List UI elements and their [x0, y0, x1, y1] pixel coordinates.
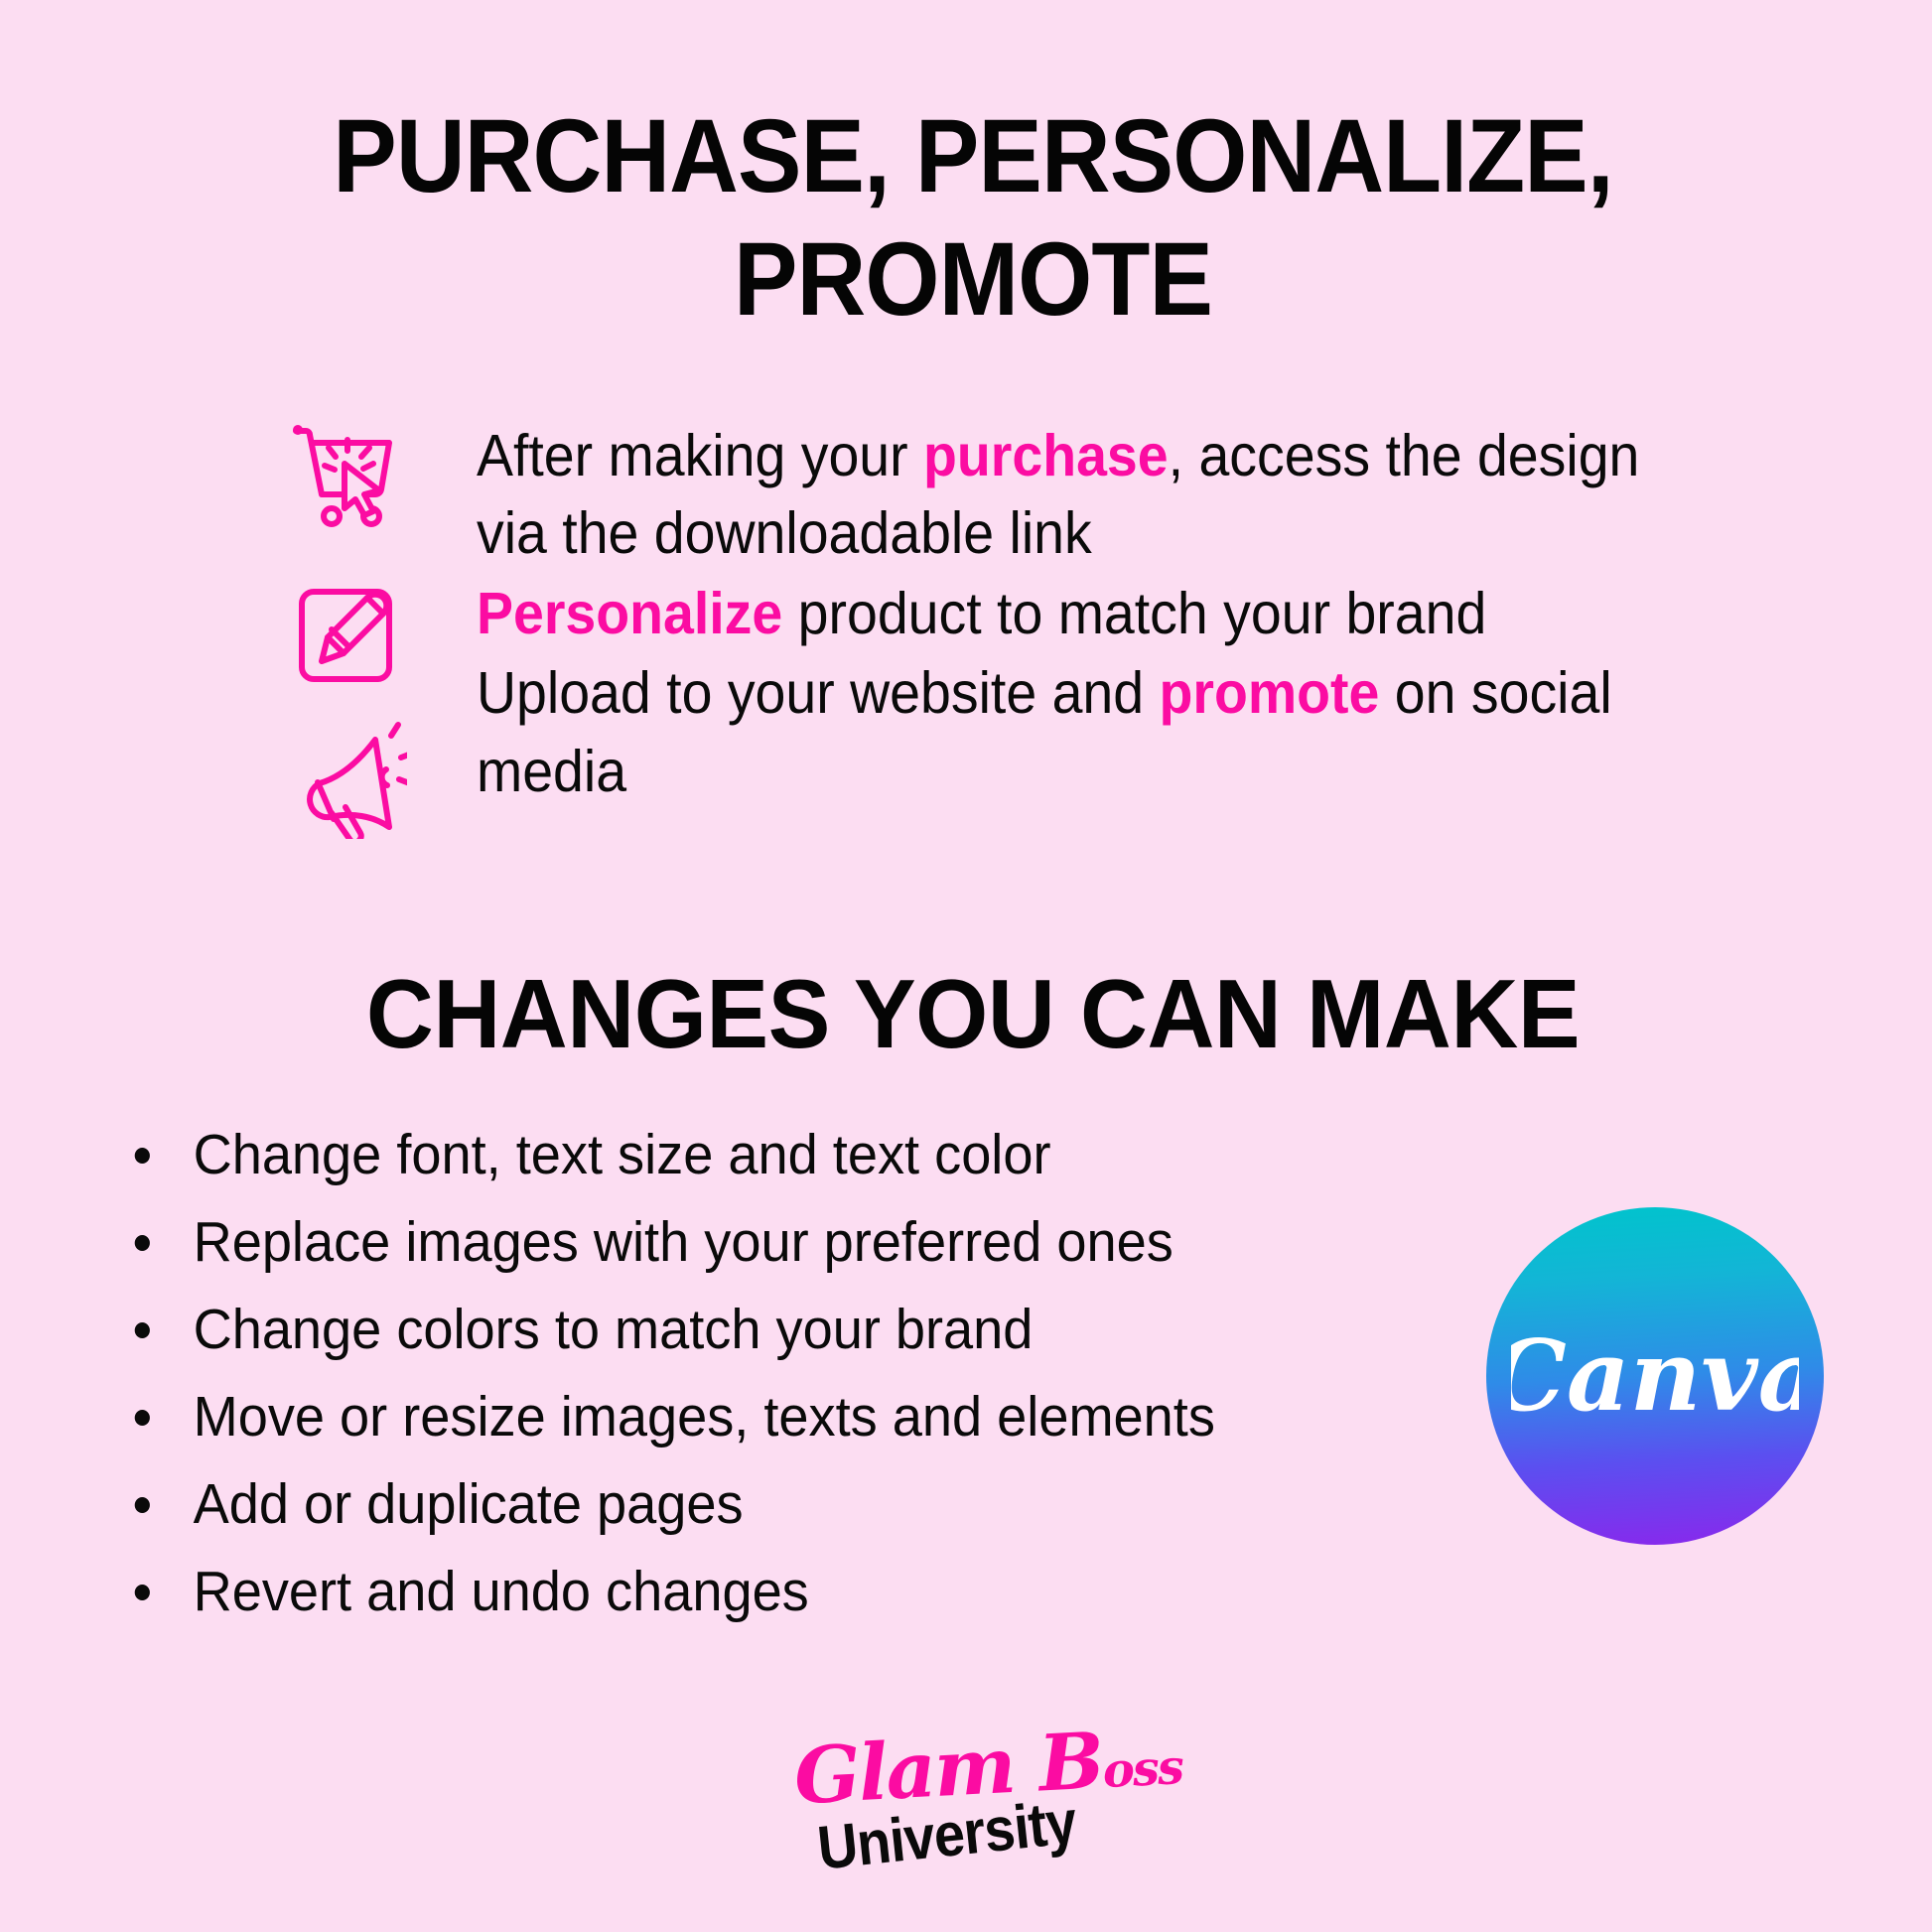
canva-logo-badge: Canva — [1486, 1207, 1824, 1545]
step-2-segment-0: Personalize — [477, 581, 782, 646]
step-2-segment-1: product to match your brand — [782, 581, 1486, 646]
list-item: Replace images with your preferred ones — [129, 1214, 1449, 1271]
megaphone-icon — [288, 720, 407, 839]
step-3-segment-1: promote — [1160, 660, 1380, 726]
shopping-cart-click-icon — [288, 417, 407, 536]
list-item: Change colors to match your brand — [129, 1302, 1449, 1358]
canva-label: Canva — [1511, 1318, 1799, 1434]
step-paragraph-1: After making your purchase, access the d… — [477, 417, 1652, 573]
step-1-segment-1: purchase — [923, 423, 1169, 488]
step-3-segment-0: Upload to your website and — [477, 660, 1160, 726]
logo-brand-small: oss — [1101, 1739, 1183, 1799]
step-paragraph-3: Upload to your website and promote on so… — [477, 654, 1652, 810]
glam-boss-university-logo: Glam Boss University — [794, 1723, 1152, 1891]
steps-text-block: After making your purchase, access the d… — [477, 417, 1652, 810]
list-item: Move or resize images, texts and element… — [129, 1389, 1449, 1446]
page-title: PURCHASE, PERSONALIZE, PROMOTE — [224, 95, 1723, 342]
step-paragraph-2: Personalize product to match your brand — [477, 575, 1652, 652]
steps-section: After making your purchase, access the d… — [278, 417, 1727, 812]
changes-list: Change font, text size and text color Re… — [129, 1127, 1519, 1651]
step-1-segment-0: After making your — [477, 423, 923, 488]
changes-section-title: CHANGES YOU CAN MAKE — [192, 958, 1754, 1070]
list-item: Revert and undo changes — [129, 1564, 1449, 1620]
list-item: Change font, text size and text color — [129, 1127, 1449, 1183]
list-item: Add or duplicate pages — [129, 1476, 1449, 1533]
canva-wordmark-icon: Canva — [1511, 1314, 1799, 1444]
poster-canvas: PURCHASE, PERSONALIZE, PROMOTE — [0, 0, 1932, 1932]
pencil-edit-square-icon — [288, 576, 407, 695]
